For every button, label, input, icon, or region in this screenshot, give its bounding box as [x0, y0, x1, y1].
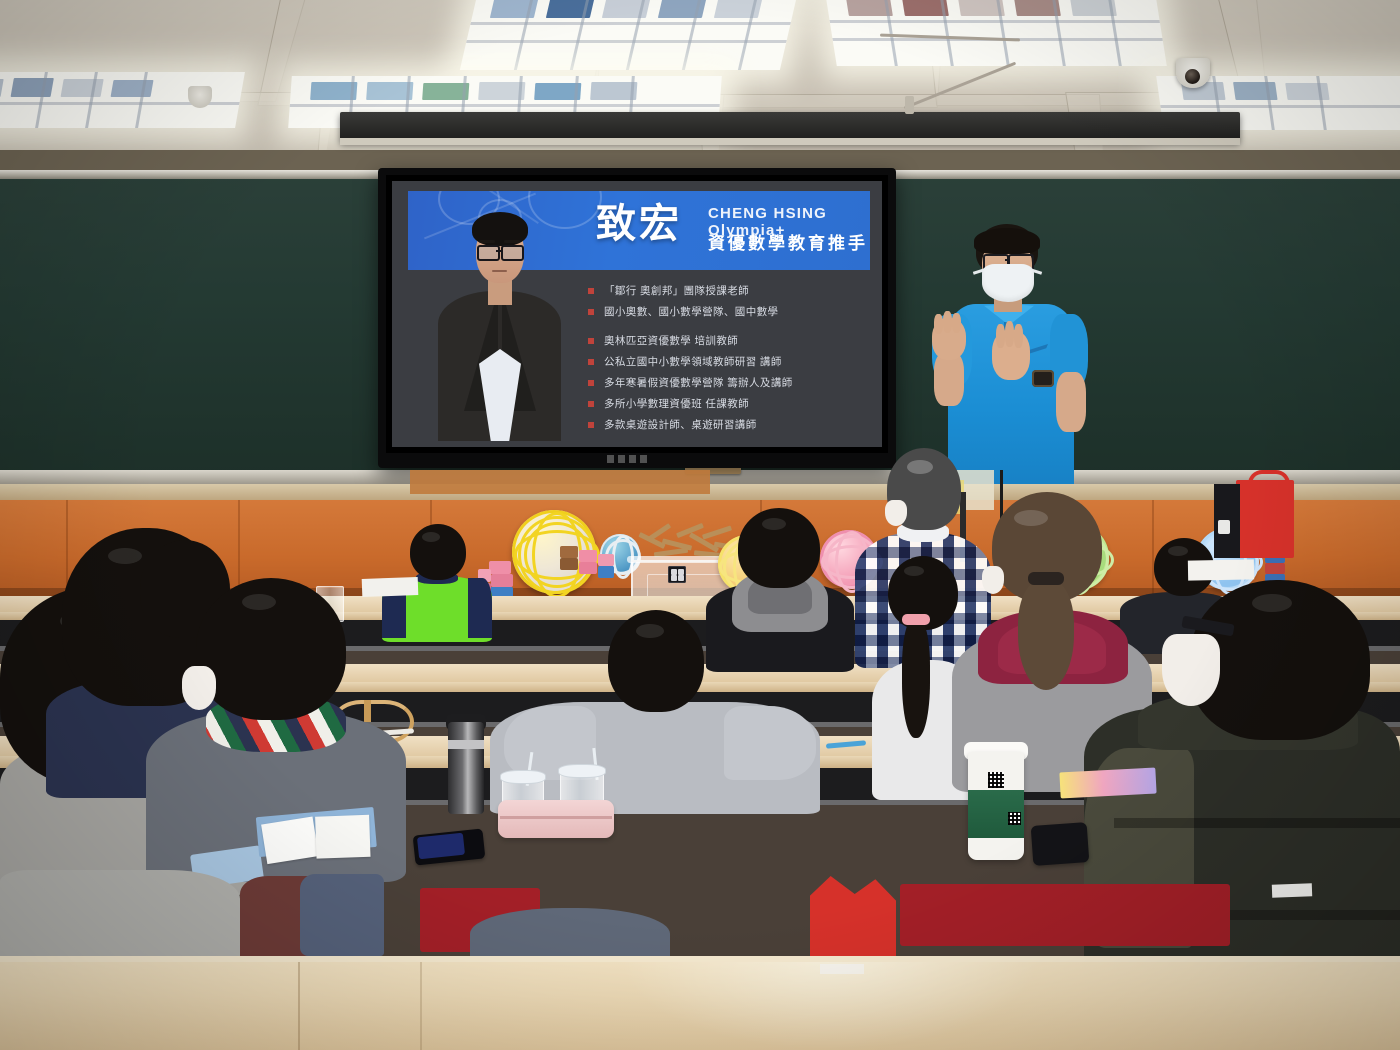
red-chair: [900, 884, 1230, 946]
paper-slip: [820, 964, 864, 974]
ceiling: [0, 0, 1400, 175]
red-shopping-bag: [1236, 480, 1294, 558]
instructor-portrait: [438, 191, 561, 441]
presenter-right-forearm: [1056, 372, 1086, 432]
presenter-left-forearm: [934, 352, 964, 406]
presenter-right-hand: [992, 330, 1030, 380]
wristwatch-icon: [1032, 370, 1054, 387]
red-bag-under-desk: [810, 876, 896, 958]
screen-housing-lip: [340, 138, 1240, 145]
slide-bullet-list: 「鄒行 奧創邦」團隊授課老師 國小奧數、國小數學營隊、國中數學 奧林匹亞資優數學…: [588, 285, 872, 440]
rubik-cube-icon: [668, 566, 686, 583]
slide-tagline: 資優數學教育推手: [708, 229, 868, 254]
bullet-item: 公私立國中小數學領域教師研習 講師: [588, 356, 872, 368]
bullet-item: 多所小學數理資優班 任課教師: [588, 398, 872, 410]
paper-slip: [1272, 883, 1312, 897]
qr-code-icon: [988, 772, 1004, 788]
slide-name-zh: 致宏: [596, 202, 682, 246]
bullet-item: 多款桌遊設計師、桌遊研習講師: [588, 419, 872, 431]
bullet-item: 奧林匹亞資優數學 培訓教師: [588, 335, 872, 347]
face-mask-icon: [982, 264, 1034, 302]
presentation-slide: 致宏 CHENG HSING Olympia+ 資優數學教育推手 「鄒行 奧創邦…: [392, 181, 882, 447]
qr-code-icon: [1008, 812, 1021, 825]
classroom-photo: 致宏 CHENG HSING Olympia+ 資優數學教育推手 「鄒行 奧創邦…: [0, 0, 1400, 1050]
bullet-item: 「鄒行 奧創邦」團隊授課老師: [588, 285, 872, 297]
front-desk-surface: [410, 470, 710, 494]
sleeve-foreground: [0, 870, 240, 966]
tv-brand-logo: [607, 455, 647, 463]
travel-thermos: [448, 722, 484, 814]
presenter-left-hand: [932, 318, 966, 360]
hair-tie: [902, 614, 930, 625]
smartphone: [1031, 822, 1090, 866]
security-camera-icon: [1176, 58, 1210, 88]
colored-note-sheets: [1059, 768, 1156, 799]
bullet-item: 國小奧數、國小數學營隊、國中數學: [588, 306, 872, 318]
bullet-item: 多年寒暑假資優數學營隊 籌辦人及講師: [588, 377, 872, 389]
jacket-on-chair: [300, 874, 384, 956]
screen-pull-knob[interactable]: [905, 96, 914, 114]
hair-tie: [1028, 572, 1064, 585]
paper-sheets: [1188, 559, 1254, 580]
open-book: [256, 807, 378, 873]
pink-pencil-case: [498, 800, 614, 838]
